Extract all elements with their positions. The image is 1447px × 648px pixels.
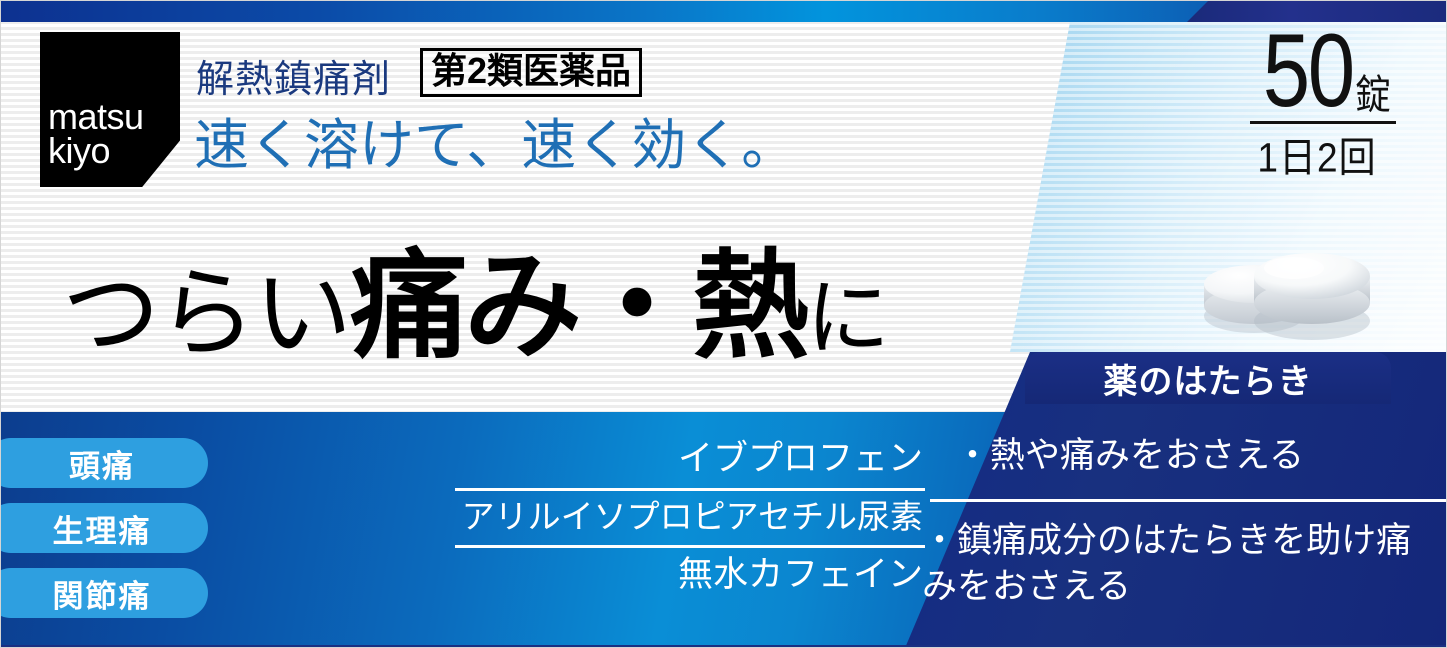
headline-suffix: に [806, 271, 890, 365]
drug-class-badge: 第2類医薬品 [420, 48, 642, 97]
tablet-count-value: 50 [1263, 24, 1353, 120]
product-tagline: 速く溶けて、速く効く。 [194, 100, 796, 180]
effect-item-2: ・鎮痛成分のはたらきを助け痛みをおさえる [922, 518, 1437, 610]
product-category-label: 解熱鎮痛剤 [196, 48, 391, 103]
effects-divider [930, 499, 1447, 502]
headline-prefix: つらい [62, 258, 350, 368]
dosage-frequency: 1日2回 [1232, 124, 1402, 183]
dosage-block: 50 錠 1日2回 [1232, 24, 1402, 181]
symptom-badge-headache: 頭痛 [0, 438, 208, 488]
matsukiyo-logo-text: matsu kiyo [48, 100, 166, 169]
matsukiyo-logo: matsu kiyo [40, 32, 180, 187]
tablet-photo [1196, 228, 1382, 348]
tablet-count-row: 50 錠 [1232, 24, 1402, 120]
product-package-artwork: matsu kiyo 解熱鎮痛剤 第2類医薬品 速く溶けて、速く効く。 50 錠… [0, 0, 1447, 648]
main-headline: つらい痛み・熱に [62, 248, 890, 366]
symptom-badge-menstrual-pain: 生理痛 [0, 503, 208, 553]
effect-item-1: ・熱や痛みをおさえる [955, 437, 1425, 476]
tablet-count-unit: 錠 [1355, 75, 1391, 115]
headline-emphasis: 痛み・熱 [350, 241, 806, 373]
tablet-pill-icon [1196, 228, 1382, 348]
symptom-badge-joint-pain: 関節痛 [0, 568, 208, 618]
logo-line-2: kiyo [48, 134, 166, 169]
ingredient-item-1: イブプロフェン [455, 432, 925, 488]
effects-panel-title: 薬のはたらき [1025, 352, 1391, 404]
top-bar-right-navy-segment [1187, 0, 1447, 22]
ingredient-item-2: アリルイソプロピアセチル尿素 [455, 491, 925, 545]
ingredient-list: イブプロフェン アリルイソプロピアセチル尿素 無水カフェイン [455, 432, 925, 604]
ingredient-item-3: 無水カフェイン [455, 548, 925, 604]
